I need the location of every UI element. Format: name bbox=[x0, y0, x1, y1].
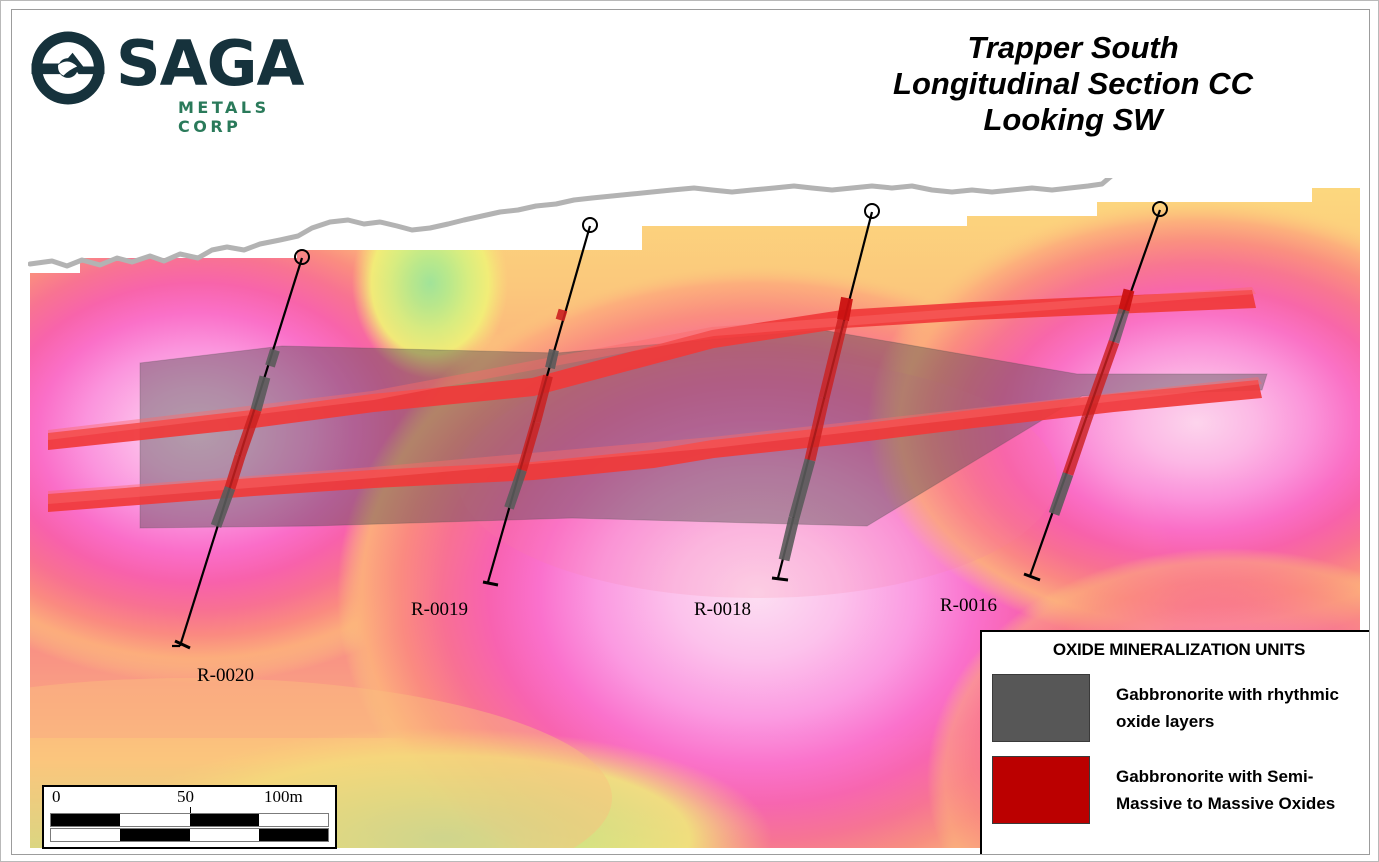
scale-label-min: 0 bbox=[52, 787, 61, 807]
legend-panel: OXIDE MINERALIZATION UNITS Gabbronorite … bbox=[980, 630, 1370, 855]
scale-bar: 0 50 100m bbox=[42, 785, 337, 849]
drillhole-label-R-0020: R-0020 bbox=[197, 665, 254, 687]
scale-seg bbox=[259, 829, 328, 841]
legend-label-line-2: Massive to Massive Oxides bbox=[1116, 790, 1335, 817]
legend-label-line-2: oxide layers bbox=[1116, 708, 1339, 735]
page-title: Trapper South Longitudinal Section CC Lo… bbox=[813, 30, 1333, 138]
title-line-3: Looking SW bbox=[813, 102, 1333, 138]
legend-label-line-1: Gabbronorite with Semi- bbox=[1116, 763, 1335, 790]
legend-swatch-rhythmic-oxide bbox=[992, 674, 1090, 742]
legend-title: OXIDE MINERALIZATION UNITS bbox=[982, 640, 1370, 660]
drillhole-label-R-0016: R-0016 bbox=[940, 595, 997, 617]
logo-wordmark: SAGA bbox=[116, 32, 304, 96]
scale-bar-labels: 0 50 100m bbox=[44, 787, 335, 811]
scale-seg bbox=[120, 829, 189, 841]
scale-bar-row-bottom bbox=[50, 828, 329, 842]
legend-item-rhythmic-oxide: Gabbronorite with rhythmic oxide layers bbox=[982, 674, 1370, 742]
legend-label-rhythmic-oxide: Gabbronorite with rhythmic oxide layers bbox=[1116, 681, 1339, 735]
title-line-1: Trapper South bbox=[813, 30, 1333, 66]
saga-circle-logo-icon bbox=[30, 30, 106, 106]
saga-logo: SAGA METALS CORP bbox=[30, 28, 330, 118]
scale-bar-row-top bbox=[50, 813, 329, 827]
legend-item-massive-oxide: Gabbronorite with Semi- Massive to Massi… bbox=[982, 756, 1370, 824]
section-figure: SAGA METALS CORP Trapper South Longitudi… bbox=[0, 0, 1379, 862]
scale-bar-graphic bbox=[50, 813, 329, 843]
scale-label-mid: 50 bbox=[177, 787, 194, 807]
logo-tagline: METALS CORP bbox=[178, 98, 330, 136]
legend-swatch-massive-oxide bbox=[992, 756, 1090, 824]
drillhole-label-R-0019: R-0019 bbox=[411, 599, 468, 621]
drillhole-label-R-0018: R-0018 bbox=[694, 599, 751, 621]
legend-label-line-1: Gabbronorite with rhythmic bbox=[1116, 681, 1339, 708]
scale-seg bbox=[51, 814, 120, 826]
scale-label-max: 100m bbox=[264, 787, 303, 807]
scale-seg bbox=[190, 814, 259, 826]
title-line-2: Longitudinal Section CC bbox=[813, 66, 1333, 102]
figure-frame: SAGA METALS CORP Trapper South Longitudi… bbox=[11, 9, 1370, 855]
legend-label-massive-oxide: Gabbronorite with Semi- Massive to Massi… bbox=[1116, 763, 1335, 817]
